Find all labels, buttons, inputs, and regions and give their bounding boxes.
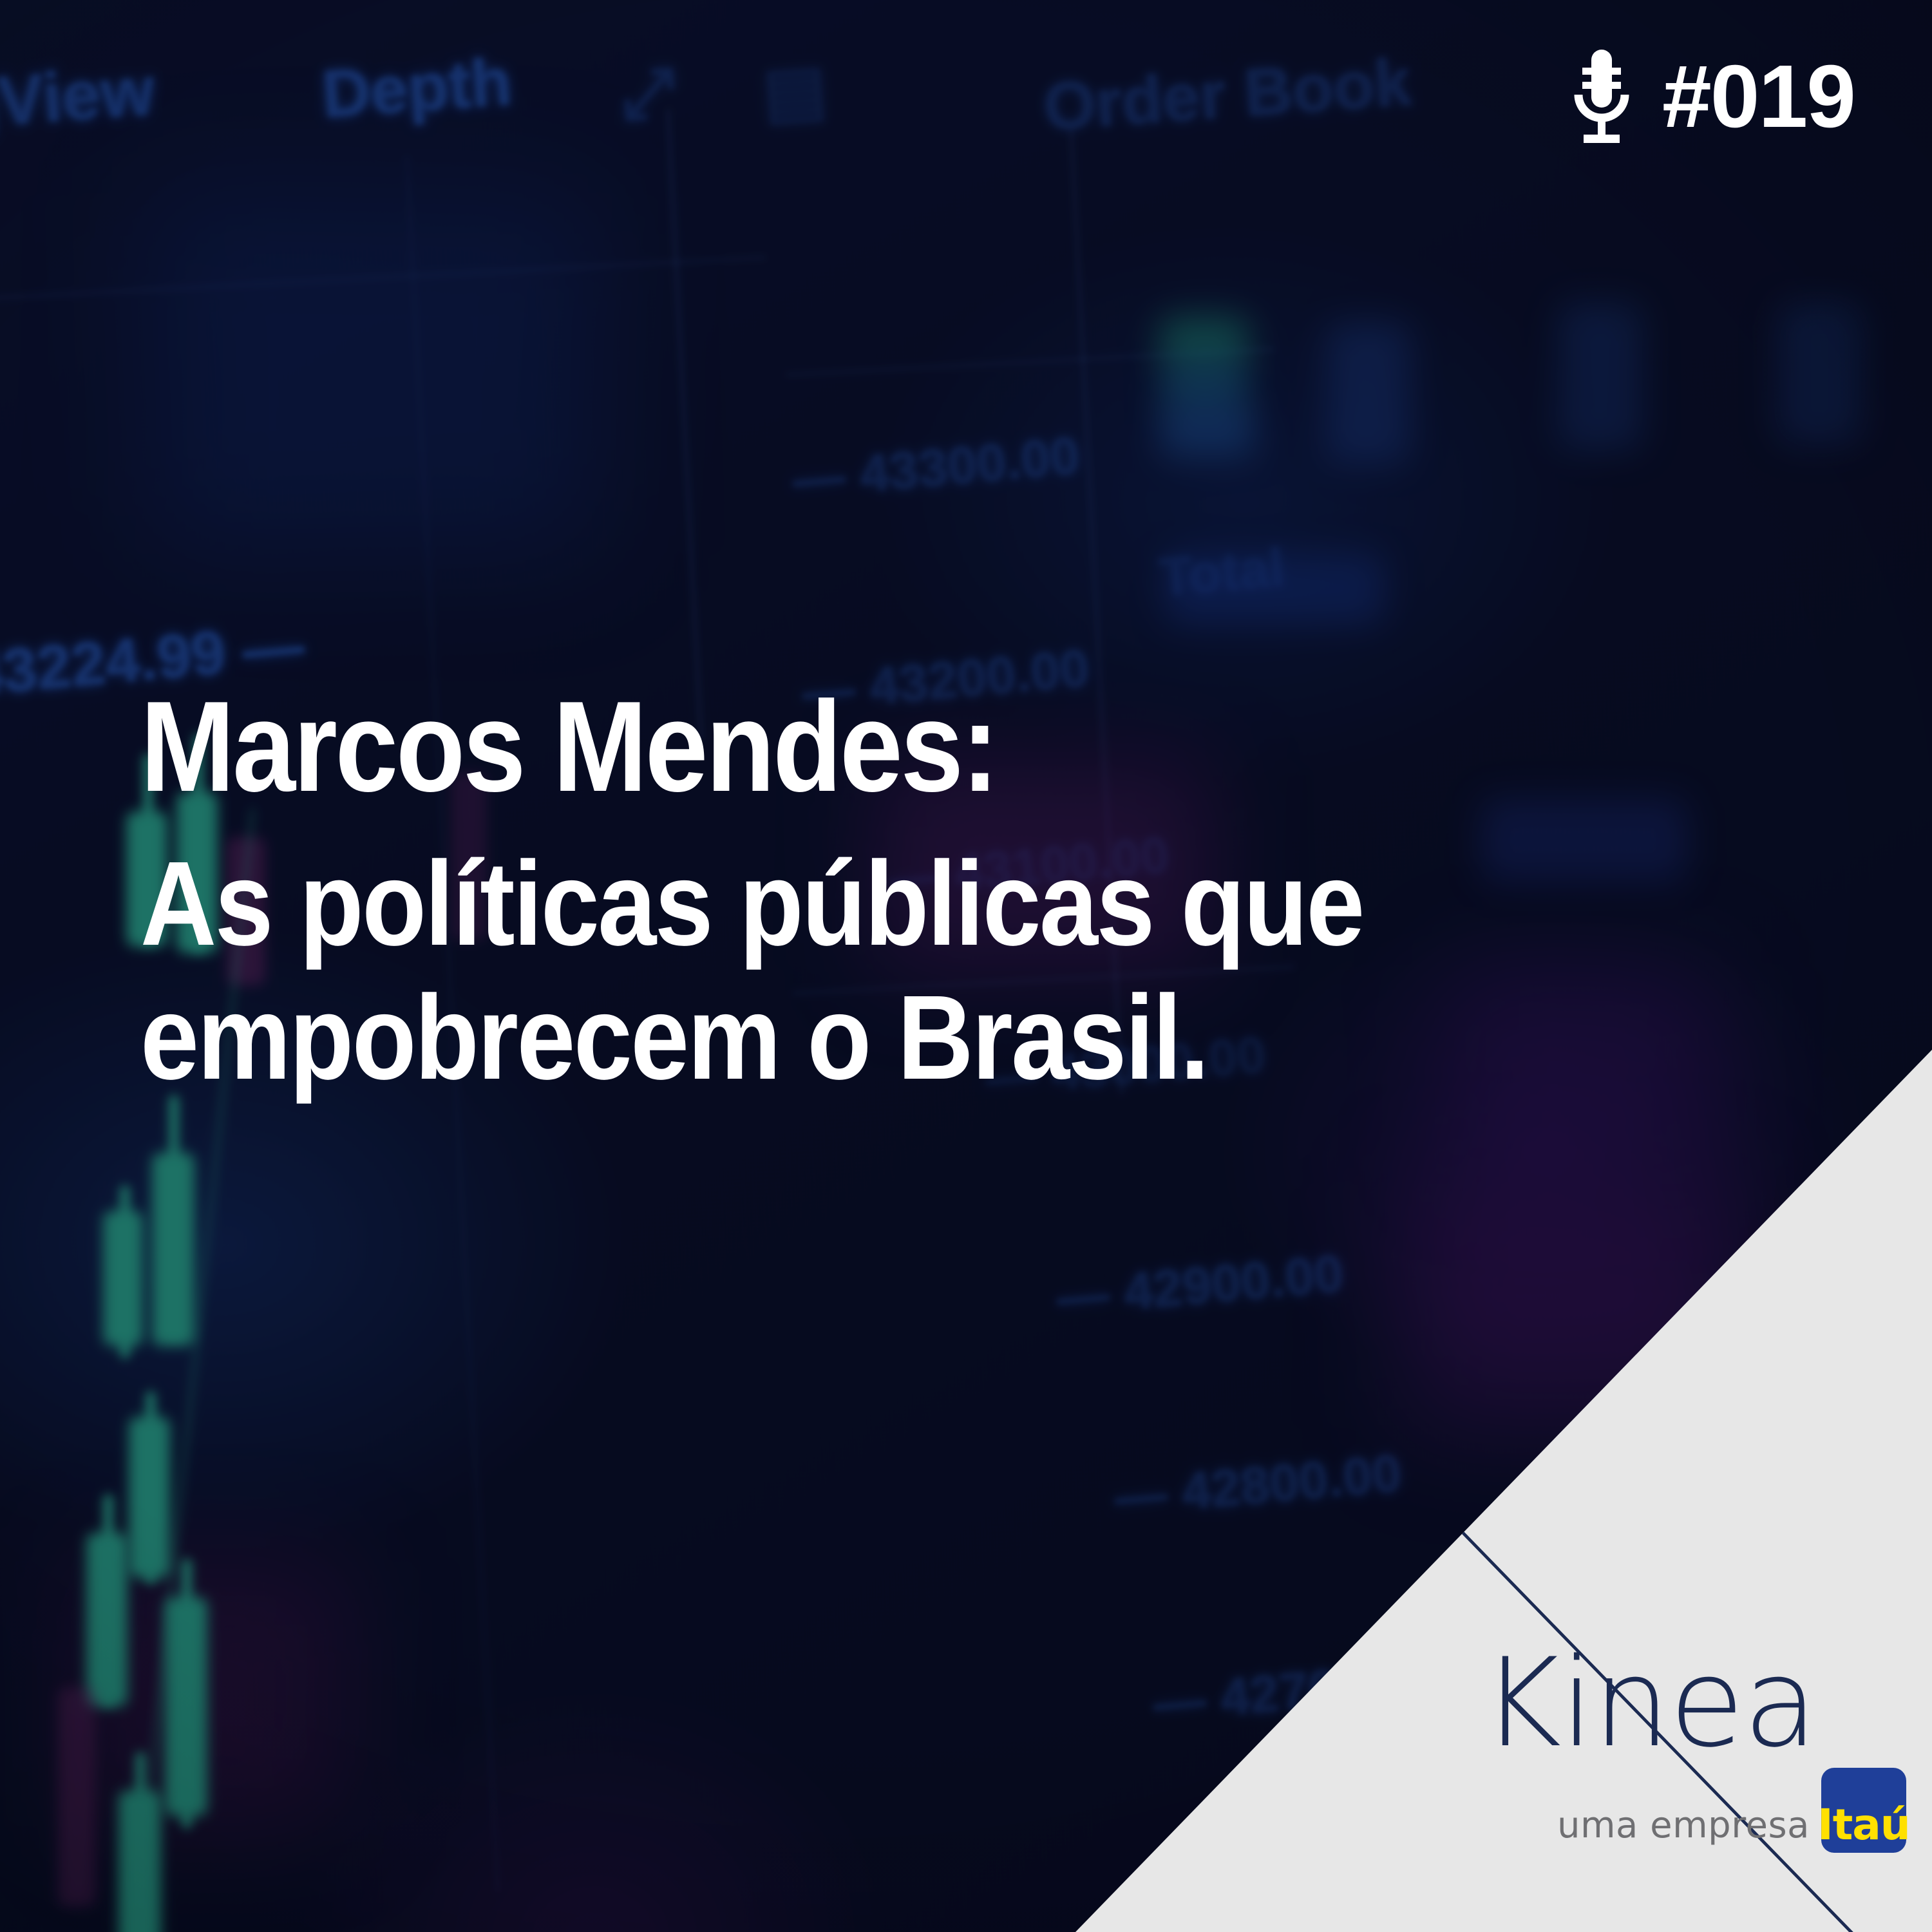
episode-badge: #019 [1572,48,1855,145]
episode-number: #019 [1662,52,1855,141]
episode-subtitle-line-2: empobrecem o Brasil. [140,971,1501,1105]
microphone-icon [1572,48,1631,145]
affiliation-label: uma empresa [1557,1808,1810,1853]
itau-logo-badge: Itaú [1821,1768,1906,1853]
guest-name: Marcos Mendes: [140,683,1501,811]
cover-title: Marcos Mendes: As políticas públicas que… [140,683,1686,1106]
kinea-wordmark: Kinea [1481,1645,1880,1762]
itau-wordmark: Itaú [1817,1804,1910,1853]
itau-affiliation: uma empresa Itaú [1557,1768,1906,1853]
kinea-logo: Kinea [1481,1645,1880,1762]
episode-subtitle-line-1: As políticas públicas que [140,837,1501,971]
podcast-cover-art: gView Depth ⤢ ▤ Order Book 43224.99 — — … [0,0,1932,1932]
